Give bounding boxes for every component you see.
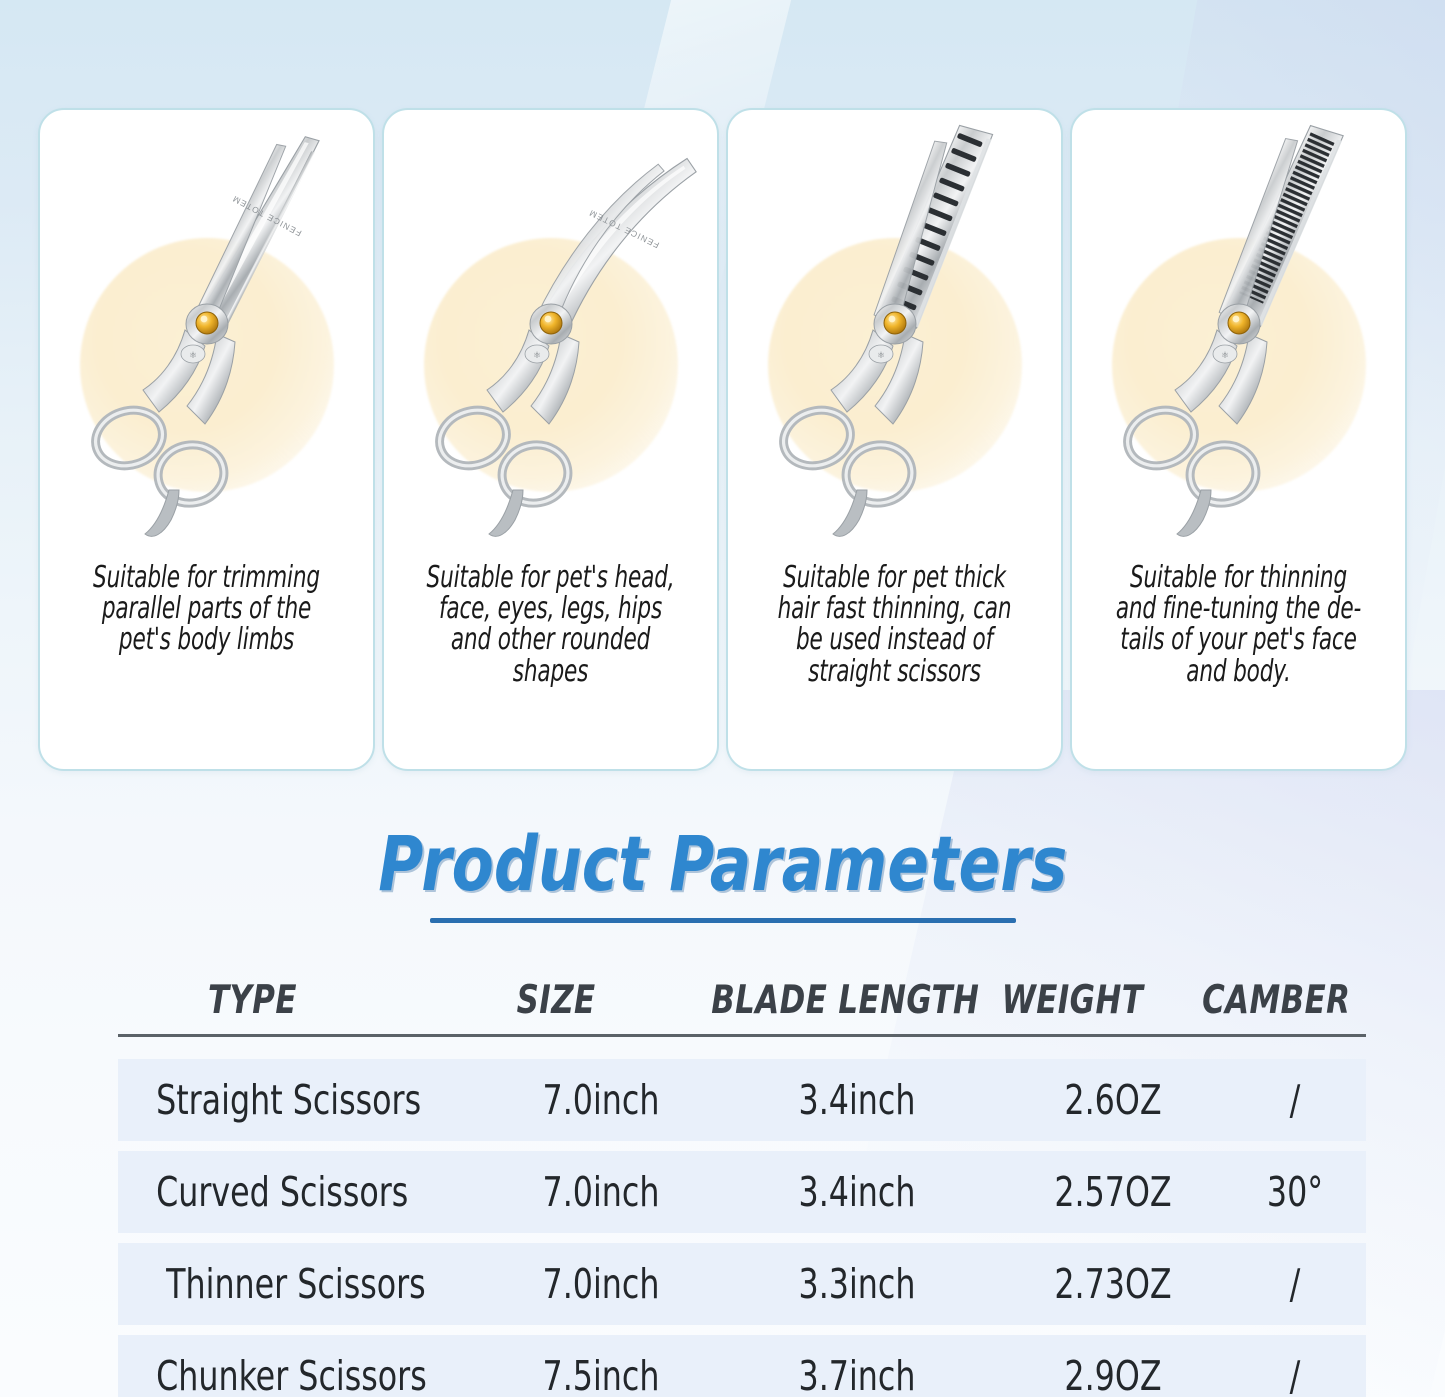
cell-type: Curved Scissors <box>144 1172 464 1213</box>
thinner-scissors-card[interactable]: ⚛ Suitable <box>1070 108 1407 771</box>
table-row: Thinner Scissors 7.0inch 3.3inch 2.73OZ … <box>118 1243 1366 1325</box>
cell-type: Straight Scissors <box>144 1080 464 1121</box>
column-header-weight: WEIGHT <box>988 981 1173 1020</box>
cell-type: Thinner Scissors <box>144 1264 464 1305</box>
card-caption: Suitable for thinning and fine-tuning th… <box>1113 562 1363 687</box>
column-header-type: TYPE <box>139 981 452 1020</box>
cell-blade-length: 3.4inch <box>732 1080 981 1121</box>
svg-text:⚛: ⚛ <box>532 350 540 360</box>
card-caption: Suitable for pet thick hair fast thinnin… <box>769 562 1019 687</box>
card-caption: Suitable for trimming parallel parts of … <box>81 562 331 656</box>
straight-scissors-card[interactable]: ⚛ <box>38 108 375 771</box>
product-parameters-table: TYPE SIZE BLADE LENGTH WEIGHT CAMBER Str… <box>118 958 1366 1397</box>
cell-size: 7.0inch <box>506 1264 697 1305</box>
cell-weight: 2.9OZ <box>1018 1356 1209 1397</box>
cell-weight: 2.6OZ <box>1018 1080 1209 1121</box>
feature-card-row: ⚛ <box>0 0 1445 780</box>
cell-blade-length: 3.7inch <box>732 1356 981 1397</box>
curved-scissors-icon: ⚛ FENICE TOTEM <box>384 110 717 565</box>
straight-scissors-icon: ⚛ <box>40 110 373 565</box>
cell-weight: 2.57OZ <box>1018 1172 1209 1213</box>
chunker-scissors-card[interactable]: ⚛ Suitable <box>726 108 1063 771</box>
cell-type: Chunker Scissors <box>144 1356 464 1397</box>
cell-blade-length: 3.3inch <box>732 1264 981 1305</box>
header-divider <box>118 1034 1366 1037</box>
card-photo: ⚛ <box>1072 110 1405 565</box>
table-header-row: TYPE SIZE BLADE LENGTH WEIGHT CAMBER <box>118 958 1366 1020</box>
title-underline <box>430 918 1016 923</box>
card-photo: ⚛ <box>40 110 373 565</box>
cell-size: 7.0inch <box>506 1172 697 1213</box>
cell-camber: / <box>1234 1356 1356 1397</box>
thinning-scissors-icon: ⚛ <box>1072 110 1405 565</box>
table-row: Curved Scissors 7.0inch 3.4inch 2.57OZ 3… <box>118 1151 1366 1233</box>
svg-text:⚛: ⚛ <box>188 350 196 360</box>
cell-size: 7.5inch <box>506 1356 697 1397</box>
section-title-block: Product Parameters <box>0 826 1445 923</box>
svg-text:⚛: ⚛ <box>876 350 884 360</box>
card-photo: ⚛ FENICE TOTEM <box>384 110 717 565</box>
page-title: Product Parameters <box>378 826 1067 902</box>
svg-text:⚛: ⚛ <box>1220 350 1228 360</box>
cell-camber: 30° <box>1234 1172 1356 1213</box>
column-header-size: SIZE <box>487 981 673 1020</box>
infographic-page: ⚛ <box>0 0 1445 1397</box>
table-body: Straight Scissors 7.0inch 3.4inch 2.6OZ … <box>118 1059 1366 1397</box>
card-caption: Suitable for pet's head, face, eyes, leg… <box>425 562 675 687</box>
curved-scissors-card[interactable]: ⚛ FENICE TOTEM <box>382 108 719 771</box>
column-header-camber: CAMBER <box>1197 981 1355 1020</box>
card-photo: ⚛ <box>728 110 1061 565</box>
cell-blade-length: 3.4inch <box>732 1172 981 1213</box>
cell-camber: / <box>1234 1264 1356 1305</box>
table-row: Chunker Scissors 7.5inch 3.7inch 2.9OZ / <box>118 1335 1366 1397</box>
table-row: Straight Scissors 7.0inch 3.4inch 2.6OZ … <box>118 1059 1366 1141</box>
cell-weight: 2.73OZ <box>1018 1264 1209 1305</box>
cell-camber: / <box>1234 1080 1356 1121</box>
column-header-blade-length: BLADE LENGTH <box>703 981 958 1020</box>
chunker-scissors-icon: ⚛ <box>728 110 1061 565</box>
cell-size: 7.0inch <box>506 1080 697 1121</box>
